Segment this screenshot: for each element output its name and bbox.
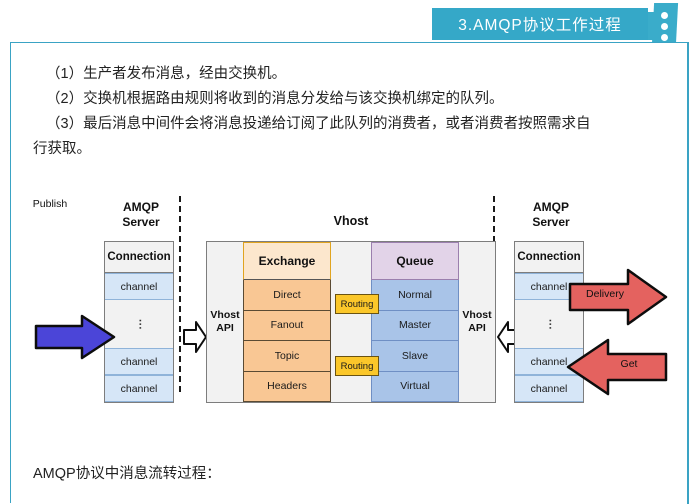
label-amqp-server-left: AMQP Server xyxy=(106,200,176,230)
vhost-entry-arrow xyxy=(182,320,208,354)
label-amqp-server-right: AMQP Server xyxy=(516,200,586,230)
page-title: 3.AMQP协议工作过程 xyxy=(458,13,622,35)
connection-left-channel-3: channel xyxy=(105,375,173,402)
vhost-api-right-line1: Vhost xyxy=(462,309,491,322)
exchange-item-direct: Direct xyxy=(243,280,331,311)
vhost-api-left-line1: Vhost xyxy=(210,309,239,322)
delivery-arrow-label: Delivery xyxy=(574,288,636,300)
queue-header: Queue xyxy=(371,242,459,280)
connection-left-channel-1: channel xyxy=(105,273,173,300)
vhost-api-left: Vhost API xyxy=(207,242,243,402)
label-amqp-server-left-line2: Server xyxy=(106,215,176,230)
exchange-column: Exchange Direct Fanout Topic Headers xyxy=(243,242,331,402)
exchange-item-topic: Topic xyxy=(243,341,331,372)
body-text-block: （1）生产者发布消息，经由交换机。 （2）交换机根据路由规则将收到的消息分发给与… xyxy=(33,62,673,162)
vertical-ellipsis-icon: ··· xyxy=(137,319,142,330)
diagram-caption: AMQP协议中消息流转过程： xyxy=(33,462,221,483)
vhost-container: Vhost API Exchange Direct Fanout Topic H… xyxy=(206,241,496,403)
publish-arrow-label: Publish xyxy=(22,198,78,210)
body-line-1: （1）生产者发布消息，经由交换机。 xyxy=(33,62,673,87)
exchange-item-headers: Headers xyxy=(243,372,331,403)
header-band: 3.AMQP协议工作过程 xyxy=(0,0,695,44)
publish-arrow-icon xyxy=(34,314,116,360)
exchange-header: Exchange xyxy=(243,242,331,280)
queue-item-slave: Slave xyxy=(371,341,459,372)
body-line-4: 行获取。 xyxy=(33,137,673,162)
label-amqp-server-right-line1: AMQP xyxy=(516,200,586,215)
slide-title-bar: 3.AMQP协议工作过程 xyxy=(432,8,648,40)
connection-left-header: Connection xyxy=(105,242,173,273)
queue-item-master: Master xyxy=(371,311,459,342)
content-frame-right-rule xyxy=(687,42,689,504)
queue-item-normal: Normal xyxy=(371,280,459,311)
routing-arrow-bottom-label: Routing xyxy=(335,356,379,376)
queue-column: Queue Normal Master Slave Virtual xyxy=(371,242,459,402)
queue-item-virtual: Virtual xyxy=(371,372,459,403)
get-arrow-label: Get xyxy=(598,358,660,370)
body-line-3: （3）最后消息中间件会将消息投递给订阅了此队列的消费者，或者消费者按照需求自 xyxy=(33,112,673,137)
header-dot-icon-3 xyxy=(661,34,668,41)
routing-arrow-top-label: Routing xyxy=(335,294,379,314)
divider-dashed-left xyxy=(179,196,181,392)
vhost-api-left-line2: API xyxy=(210,322,239,335)
amqp-flow-diagram: AMQP Server Vhost AMQP Server Connection… xyxy=(16,186,676,441)
vertical-ellipsis-icon-2: ··· xyxy=(547,319,552,330)
label-amqp-server-right-line2: Server xyxy=(516,215,586,230)
label-amqp-server-left-line1: AMQP xyxy=(106,200,176,215)
exchange-item-fanout: Fanout xyxy=(243,311,331,342)
header-dot-icon-1 xyxy=(661,12,668,19)
vhost-api-right-line2: API xyxy=(462,322,491,335)
label-vhost-title: Vhost xyxy=(311,214,391,228)
vhost-entry-arrow-icon xyxy=(182,320,208,354)
vhost-api-right: Vhost API xyxy=(459,242,495,402)
body-line-2: （2）交换机根据路由规则将收到的消息分发给与该交换机绑定的队列。 xyxy=(33,87,673,112)
publish-arrow xyxy=(34,314,116,360)
header-dot-icon-2 xyxy=(661,23,668,30)
